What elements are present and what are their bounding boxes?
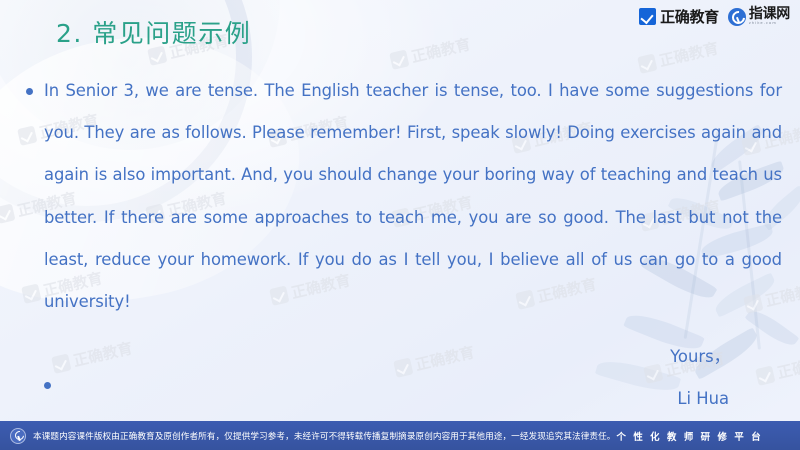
header-logo-group: 正确教育 指课网 zhike.com xyxy=(639,6,790,27)
body-content: In Senior 3, we are tense. The English t… xyxy=(18,70,782,323)
signature-name: Li Hua xyxy=(18,378,782,420)
check-square-icon xyxy=(639,8,656,25)
check-square-icon xyxy=(0,204,16,224)
footer-slogan: 个 性 化 教 师 研 修 平 台 xyxy=(616,429,762,443)
footer-copyright: 本课题内容课件版权由正确教育及原创作者所有，仅提供学习参考，未经许可不得转载传播… xyxy=(33,430,615,442)
logo-zhike-label: 指课网 xyxy=(749,7,790,21)
paragraph-text: In Senior 3, we are tense. The English t… xyxy=(44,70,782,323)
zhike-circle-icon xyxy=(10,428,26,444)
logo-zhike-url: zhike.com xyxy=(749,22,790,26)
logo-zhengque[interactable]: 正确教育 xyxy=(639,6,719,27)
watermark-label: 正确教育 xyxy=(657,37,720,71)
watermark-label: 正确教育 xyxy=(409,33,472,67)
logo-zhike[interactable]: 指课网 zhike.com xyxy=(728,7,790,26)
logo-zhike-words: 指课网 zhike.com xyxy=(749,7,790,26)
bullet-marker-empty xyxy=(18,376,51,394)
page-title: 2. 常见问题示例 xyxy=(56,14,251,50)
zhike-circle-icon xyxy=(728,8,746,26)
check-square-icon xyxy=(389,50,409,70)
footer-bar: 本课题内容课件版权由正确教育及原创作者所有，仅提供学习参考，未经许可不得转载传播… xyxy=(0,421,800,450)
slide-canvas: 正确教育 正确教育 正确教育 正确教育 正确教育 正确教育 正确教育 正确教育 xyxy=(0,0,800,450)
logo-zhengque-label: 正确教育 xyxy=(660,6,719,27)
signature-closing: Yours， xyxy=(18,336,782,378)
bullet-marker xyxy=(18,70,44,100)
list-item: In Senior 3, we are tense. The English t… xyxy=(18,70,782,323)
signature-block: Yours， Li Hua xyxy=(18,336,782,420)
